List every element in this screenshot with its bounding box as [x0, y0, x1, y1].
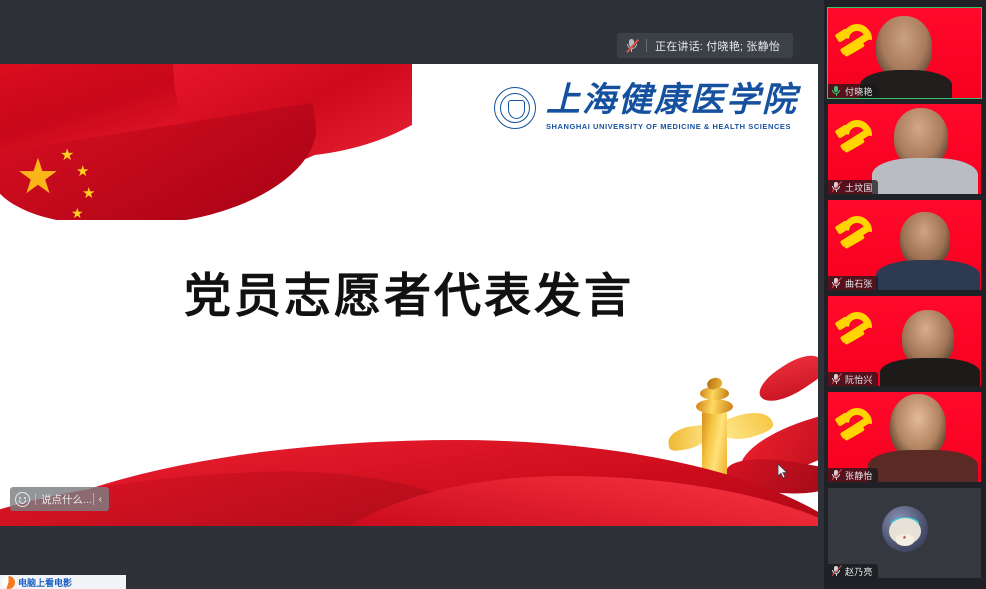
mic-muted-icon: [831, 181, 842, 193]
participant-torso: [872, 158, 978, 194]
chinese-flag-graphic: ★ ★ ★ ★ ★: [0, 64, 412, 220]
participant-tile-3[interactable]: 阮怡兴: [828, 296, 981, 386]
party-emblem-icon: [835, 18, 881, 64]
chat-input-bar[interactable]: 说点什么... ‹: [10, 487, 109, 511]
party-emblem-icon: [835, 210, 881, 256]
meeting-window: 正在讲话: 付晓艳; 张静怡 ★ ★ ★ ★ ★ 上海健康医学院 SHANGHA…: [0, 0, 986, 589]
mouse-pointer-icon: [778, 464, 789, 479]
mic-muted-icon: [831, 373, 842, 385]
mic-muted-icon: [831, 277, 842, 289]
chevron-left-icon[interactable]: ‹: [99, 494, 104, 505]
party-emblem-icon: [835, 114, 881, 160]
participant-nametag-0: 付晓艳: [828, 84, 878, 98]
flag-star-large: ★: [16, 153, 60, 202]
avatar: ★: [882, 506, 928, 552]
participant-name-5: 赵乃亮: [845, 565, 873, 578]
speaking-names: 正在讲话: 付晓艳; 张静怡: [655, 38, 780, 54]
participant-name-2: 曲石张: [845, 277, 873, 290]
shared-screen-area: 正在讲话: 付晓艳; 张静怡 ★ ★ ★ ★ ★ 上海健康医学院 SHANGHA…: [0, 0, 824, 589]
participant-tile-4[interactable]: 张静怡: [828, 392, 981, 482]
participant-tile-0[interactable]: 付晓艳: [828, 8, 981, 98]
participant-tile-1[interactable]: 土坟国: [828, 104, 981, 194]
participant-name-3: 阮怡兴: [845, 373, 873, 386]
participant-nametag-1: 土坟国: [828, 180, 878, 194]
mic-muted-icon: [831, 565, 842, 577]
participant-video: [890, 394, 946, 458]
party-emblem-icon: [835, 306, 881, 352]
mic-muted-icon: [625, 38, 638, 53]
participant-video: [876, 16, 932, 78]
university-name-en: SHANGHAI UNIVERSITY OF MEDICINE & HEALTH…: [546, 122, 798, 131]
speaking-indicator: 正在讲话: 付晓艳; 张静怡: [617, 33, 793, 58]
participant-tile-2[interactable]: 曲石张: [828, 200, 981, 290]
divider: [93, 493, 94, 505]
chat-input-placeholder[interactable]: 说点什么...: [41, 492, 92, 507]
flag-star-4: ★: [71, 206, 84, 220]
participant-torso: [876, 260, 980, 290]
participant-video: [900, 212, 950, 266]
browser-icon[interactable]: [2, 576, 15, 589]
flag-star-1: ★: [60, 148, 74, 164]
university-name-zh: 上海健康医学院: [546, 84, 798, 118]
mic-on-icon: [831, 85, 842, 97]
smiley-icon[interactable]: [15, 492, 30, 507]
participant-nametag-4: 张静怡: [828, 468, 878, 482]
taskbar[interactable]: 电脑上看电影: [0, 575, 126, 589]
presentation-slide: ★ ★ ★ ★ ★ 上海健康医学院 SHANGHAI UNIVERSITY OF…: [0, 64, 818, 526]
participant-name-0: 付晓艳: [845, 85, 873, 98]
participant-name-1: 土坟国: [845, 181, 873, 194]
divider: [35, 493, 36, 505]
participant-nametag-5: 赵乃亮: [828, 564, 878, 578]
participant-torso: [880, 358, 980, 386]
participant-filmstrip[interactable]: 付晓艳 土坟国: [824, 0, 986, 589]
taskbar-label[interactable]: 电脑上看电影: [18, 576, 72, 589]
university-seal-icon: [494, 87, 536, 129]
participant-nametag-2: 曲石张: [828, 276, 878, 290]
slide-title: 党员志愿者代表发言: [0, 257, 818, 326]
flag-star-2: ★: [76, 164, 89, 179]
divider: [646, 39, 647, 52]
university-logo: 上海健康医学院 SHANGHAI UNIVERSITY OF MEDICINE …: [494, 84, 798, 131]
participant-nametag-3: 阮怡兴: [828, 372, 878, 386]
red-ribbon-3: [754, 347, 818, 411]
mic-muted-icon: [831, 469, 842, 481]
flag-star-3: ★: [82, 186, 95, 201]
participant-tile-5[interactable]: ★ 赵乃亮: [828, 488, 981, 578]
participant-torso: [868, 450, 978, 482]
party-emblem-icon: [835, 402, 881, 448]
participant-name-4: 张静怡: [845, 469, 873, 482]
